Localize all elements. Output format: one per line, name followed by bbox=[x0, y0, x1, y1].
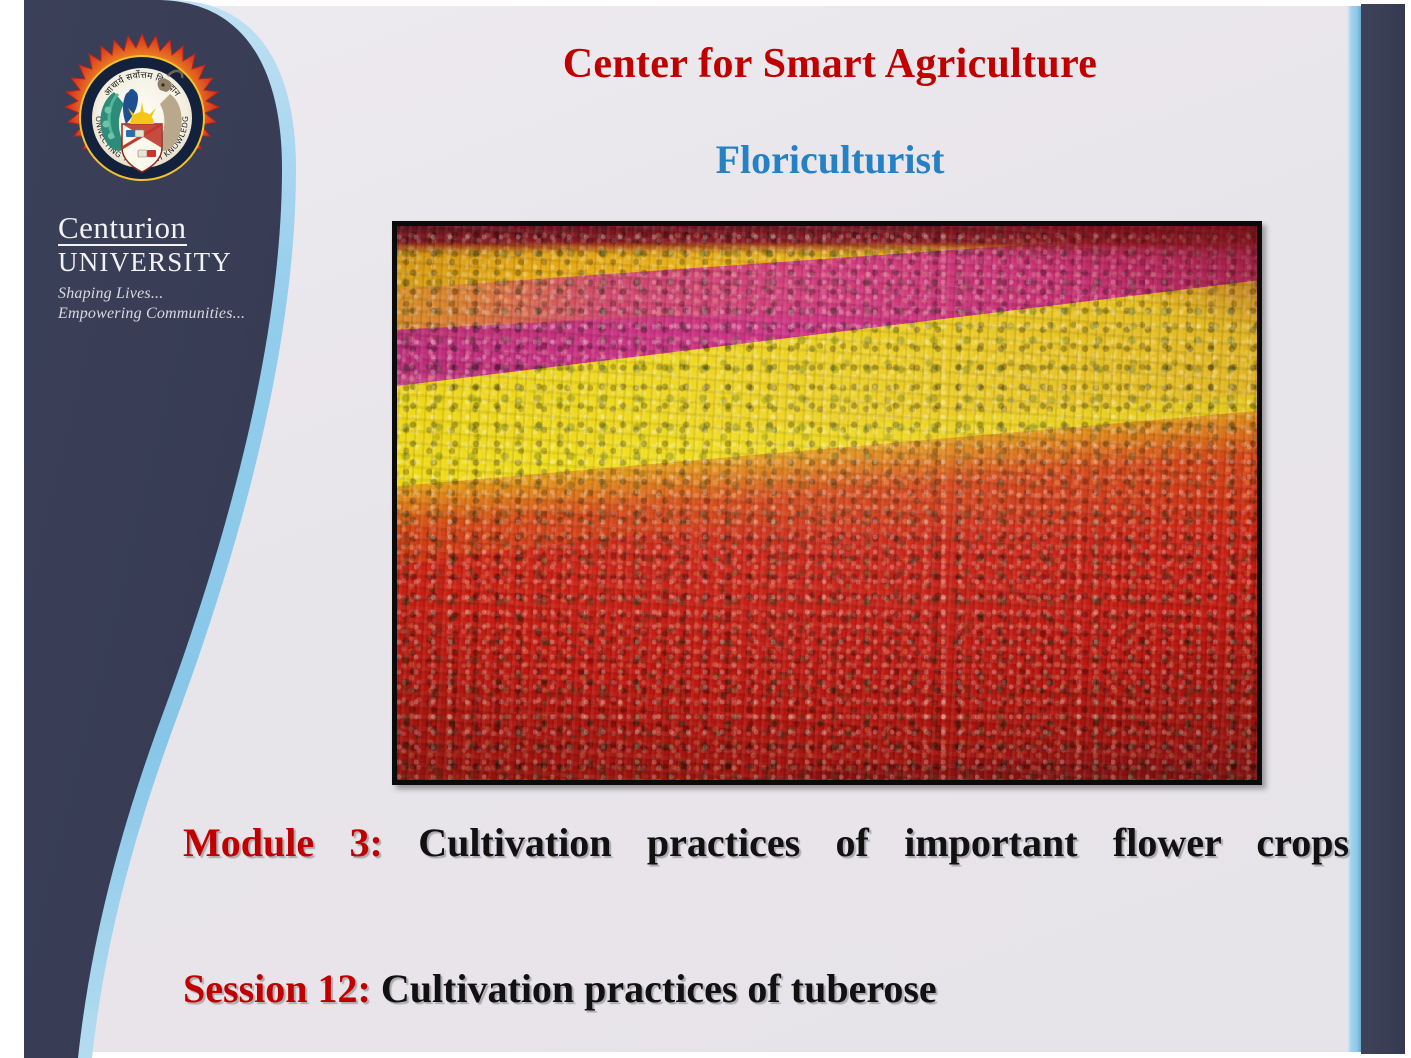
slide-body-text: Module 3: Cultivation practices of impor… bbox=[183, 806, 1349, 1025]
module-text: Cultivation practices of important flowe… bbox=[418, 820, 1349, 865]
slide-subtitle: Floriculturist bbox=[330, 136, 1330, 183]
session-text: Cultivation practices of tuberose bbox=[381, 966, 937, 1011]
tagline-line-1: Shaping Lives... bbox=[58, 284, 252, 304]
wordmark-line-1: Centurion bbox=[58, 212, 187, 246]
module-line: Module 3: Cultivation practices of impor… bbox=[183, 806, 1349, 952]
slide-title: Center for Smart Agriculture bbox=[330, 40, 1330, 88]
brand-logo-block: आचार्य सर्वोत्तम विद्यादान CONNECTING TH… bbox=[52, 32, 252, 324]
photo-content bbox=[397, 226, 1257, 780]
tagline-line-2: Empowering Communities... bbox=[58, 304, 252, 324]
presentation-slide: आचार्य सर्वोत्तम विद्यादान CONNECTING TH… bbox=[0, 0, 1411, 1058]
module-label: Module 3: bbox=[183, 820, 383, 865]
right-blue-accent-bar bbox=[1347, 6, 1361, 1052]
flower-field-photo bbox=[392, 221, 1262, 785]
university-wordmark: Centurion UNIVERSITY Shaping Lives... Em… bbox=[58, 212, 252, 324]
session-line: Session 12: Cultivation practices of tub… bbox=[183, 952, 1349, 1025]
wordmark-line-2: UNIVERSITY bbox=[58, 248, 252, 278]
session-label: Session 12: bbox=[183, 966, 371, 1011]
right-navy-band bbox=[1361, 4, 1405, 1054]
university-crest-icon: आचार्य सर्वोत्तम विद्यादान CONNECTING TH… bbox=[56, 32, 228, 204]
photo-vignette bbox=[397, 226, 1257, 780]
